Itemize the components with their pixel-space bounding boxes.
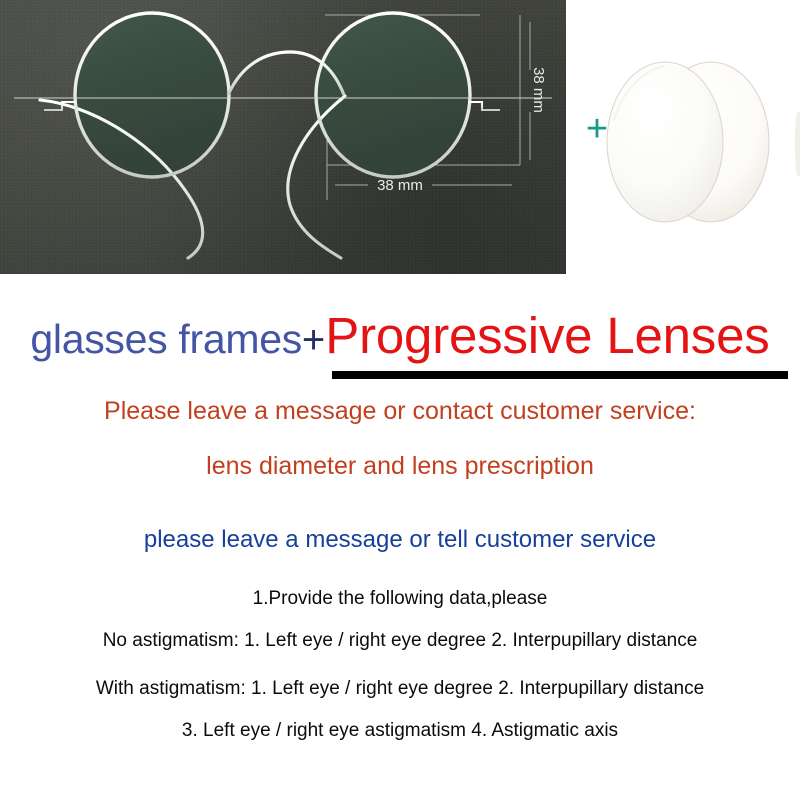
title-part-plus: + <box>302 320 325 360</box>
frame-photo: 38 mm 38 mm <box>0 0 566 274</box>
title-underline-bar <box>332 371 788 379</box>
title-part-frames: glasses frames <box>30 319 302 360</box>
instruction-line-2: No astigmatism: 1. Left eye / right eye … <box>0 630 800 652</box>
dimension-label-horizontal: 38 mm <box>377 177 423 194</box>
eyeglass-frame-illustration: 38 mm 38 mm <box>0 0 566 274</box>
lens-front <box>607 62 723 222</box>
customer-service-message-line-2: lens diameter and lens prescription <box>0 452 800 481</box>
lens-edge-sliver <box>795 112 800 176</box>
instruction-line-3: With astigmatism: 1. Left eye / right ey… <box>0 678 800 700</box>
customer-service-message-line-1: Please leave a message or contact custom… <box>0 397 800 426</box>
instruction-line-1: 1.Provide the following data,please <box>0 588 800 610</box>
product-banner: 38 mm 38 mm + <box>0 0 800 274</box>
instruction-line-4: 3. Left eye / right eye astigmatism 4. A… <box>0 720 800 742</box>
right-lens-tint <box>317 14 469 176</box>
page-title: glasses frames + Progressive Lenses <box>0 310 800 380</box>
lens-pair-illustration <box>566 0 800 274</box>
lens-photo: + <box>566 0 800 274</box>
title-part-lenses: Progressive Lenses <box>325 310 769 361</box>
customer-service-message-blue: please leave a message or tell customer … <box>0 526 800 554</box>
dimension-label-vertical: 38 mm <box>530 67 547 113</box>
